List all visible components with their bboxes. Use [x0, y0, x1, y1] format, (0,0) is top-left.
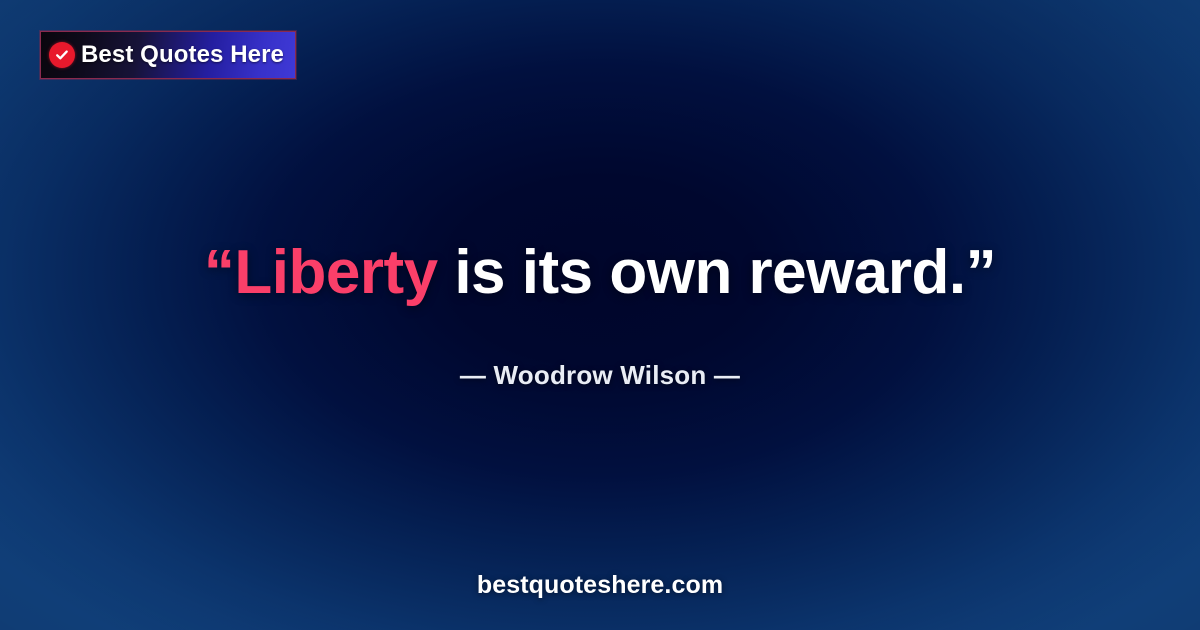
- check-circle-icon: [49, 42, 75, 68]
- footer-site-url: bestquoteshere.com: [0, 571, 1200, 600]
- brand-badge-label: Best Quotes Here: [81, 41, 284, 69]
- quote-accent-word: “Liberty: [204, 238, 438, 307]
- quote-attribution: — Woodrow Wilson —: [0, 360, 1200, 391]
- quote-remainder: is its own reward.”: [438, 238, 996, 307]
- quote-text: “Liberty is its own reward.”: [60, 240, 1140, 307]
- brand-badge[interactable]: Best Quotes Here: [40, 31, 296, 79]
- quote-block: “Liberty is its own reward.”: [0, 240, 1200, 307]
- quote-card: Best Quotes Here “Liberty is its own rew…: [0, 0, 1200, 630]
